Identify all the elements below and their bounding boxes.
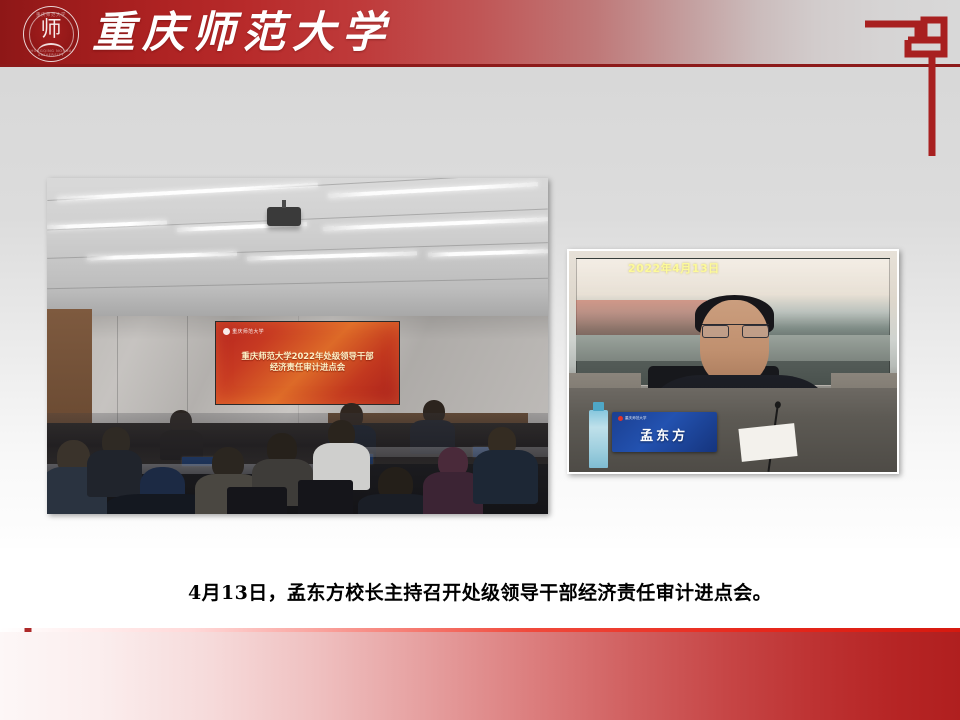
university-seal-icon: 重庆师范大学 师 CHONGQING NORMAL UNIVERSITY [23, 6, 79, 62]
screen-title-line1: 重庆师范大学2022年处级领导干部 [241, 351, 373, 361]
speaker-nameplate: 重庆师范大学 孟东方 [612, 412, 717, 452]
screen-title-line2: 经济责任审计进点会 [221, 362, 393, 373]
screen-logo-text: 重庆师范大学 [232, 328, 264, 335]
screen-title: 重庆师范大学2022年处级领导干部 经济责任审计进点会 [221, 351, 393, 373]
seal-glyph: 师 [24, 19, 78, 40]
projection-screen: 重庆师范大学 重庆师范大学2022年处级领导干部 经济责任审计进点会 [215, 321, 400, 405]
ceiling-projector [267, 207, 301, 226]
nameplate-logo-text: 重庆师范大学 [625, 416, 647, 421]
footer-band [0, 632, 960, 720]
speaker-head [700, 300, 769, 384]
nameplate-logo: 重庆师范大学 [618, 416, 647, 421]
overlay-date-text: 2022年4月13日 [628, 260, 720, 276]
speaker-glasses [702, 324, 769, 338]
screen-logo: 重庆师范大学 [223, 328, 264, 335]
audience-person-body [473, 450, 538, 504]
water-bottle [589, 410, 609, 467]
corner-ornament-top-right [862, 10, 948, 158]
brand-title: 重庆师范大学 [92, 4, 392, 62]
slide-root: 重庆师范大学 师 CHONGQING NORMAL UNIVERSITY 重庆师… [0, 0, 960, 720]
nameplate-logo-icon [618, 416, 623, 421]
background-buildings [576, 300, 707, 335]
audience-person-body [358, 494, 433, 514]
chair-back [227, 487, 287, 514]
chair-back [298, 480, 353, 514]
caption-text: 4月13日，孟东方校长主持召开处级领导干部经济责任审计进点会。 [0, 578, 960, 605]
paper-document [738, 423, 797, 462]
nameplate-name: 孟东方 [612, 425, 717, 444]
conference-room-photo[interactable]: 重庆师范大学 重庆师范大学2022年处级领导干部 经济责任审计进点会 [47, 178, 548, 514]
audience-person-body [87, 450, 142, 497]
screen-logo-icon [223, 328, 230, 335]
seal-arc-bottom-text: CHONGQING NORMAL UNIVERSITY [24, 49, 78, 57]
side-wall-left [47, 309, 92, 430]
speaker-portrait-photo[interactable]: 2022年4月13日 重庆师范大学 孟东方 [567, 249, 899, 474]
page-header: 重庆师范大学 师 CHONGQING NORMAL UNIVERSITY 重庆师… [0, 0, 960, 67]
ceiling [47, 178, 548, 316]
